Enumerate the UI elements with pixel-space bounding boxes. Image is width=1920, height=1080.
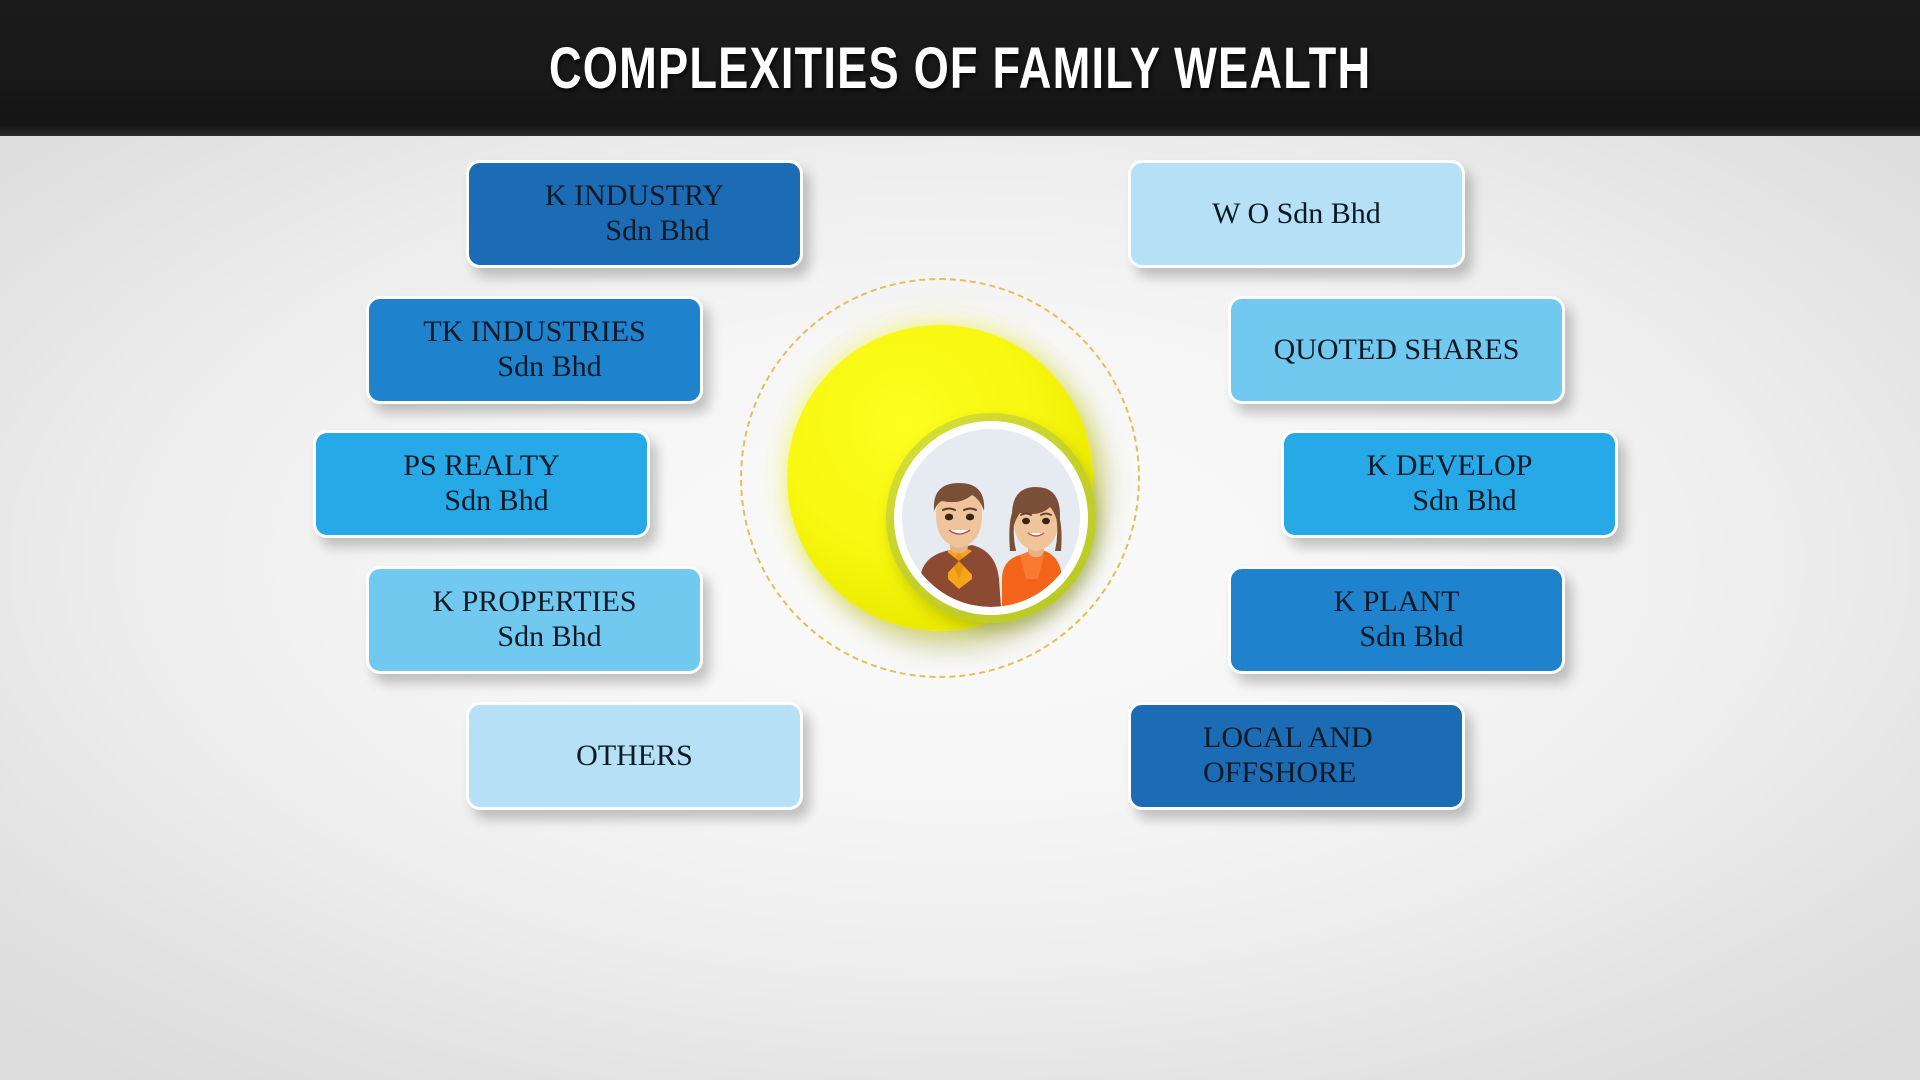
node-k-properties[interactable]: K PROPERTIES Sdn Bhd: [366, 566, 703, 674]
slide-root: COMPLEXITIES OF FAMILY WEALTH K INDUSTRY…: [0, 0, 1920, 1080]
header-bar: COMPLEXITIES OF FAMILY WEALTH: [0, 0, 1920, 136]
node-k-plant[interactable]: K PLANT Sdn Bhd: [1228, 566, 1565, 674]
couple-avatar: [902, 429, 1080, 607]
node-tk-industries[interactable]: TK INDUSTRIES Sdn Bhd: [366, 296, 703, 404]
node-ps-realty[interactable]: PS REALTY Sdn Bhd: [313, 430, 650, 538]
node-w-o-sdn-bhd[interactable]: W O Sdn Bhd: [1128, 160, 1465, 268]
node-label-line1: OTHERS: [576, 739, 693, 774]
white-ring: [894, 421, 1088, 615]
node-label-line2: Sdn Bhd: [338, 484, 625, 519]
page-title: COMPLEXITIES OF FAMILY WEALTH: [549, 35, 1371, 102]
node-k-develop[interactable]: K DEVELOP Sdn Bhd: [1281, 430, 1618, 538]
node-label-line1: LOCAL AND: [1203, 721, 1440, 756]
node-label-line1: K DEVELOP: [1306, 449, 1593, 484]
center-emblem: [740, 278, 1140, 678]
node-label-line1: TK INDUSTRIES: [391, 315, 678, 350]
node-label-line2: Sdn Bhd: [391, 350, 678, 385]
node-quoted-shares[interactable]: QUOTED SHARES: [1228, 296, 1565, 404]
node-label-line1: QUOTED SHARES: [1274, 333, 1520, 368]
node-label-line2: Sdn Bhd: [1306, 484, 1593, 519]
node-label-line2: Sdn Bhd: [391, 620, 678, 655]
node-label-line1: W O Sdn Bhd: [1212, 197, 1381, 232]
node-label-line2: Sdn Bhd: [1253, 620, 1540, 655]
node-label-line2: OFFSHORE: [1203, 756, 1440, 791]
node-label-line1: PS REALTY: [338, 449, 625, 484]
node-label-line1: K PLANT: [1253, 585, 1540, 620]
green-ring: [886, 413, 1096, 623]
node-label-line1: K INDUSTRY: [491, 179, 778, 214]
node-label-line2: Sdn Bhd: [491, 214, 778, 249]
node-label-line1: K PROPERTIES: [391, 585, 678, 620]
node-k-industry[interactable]: K INDUSTRY Sdn Bhd: [466, 160, 803, 268]
yellow-disc: [787, 325, 1093, 631]
node-local-and-offshore[interactable]: LOCAL AND OFFSHORE: [1128, 702, 1465, 810]
node-others[interactable]: OTHERS: [466, 702, 803, 810]
